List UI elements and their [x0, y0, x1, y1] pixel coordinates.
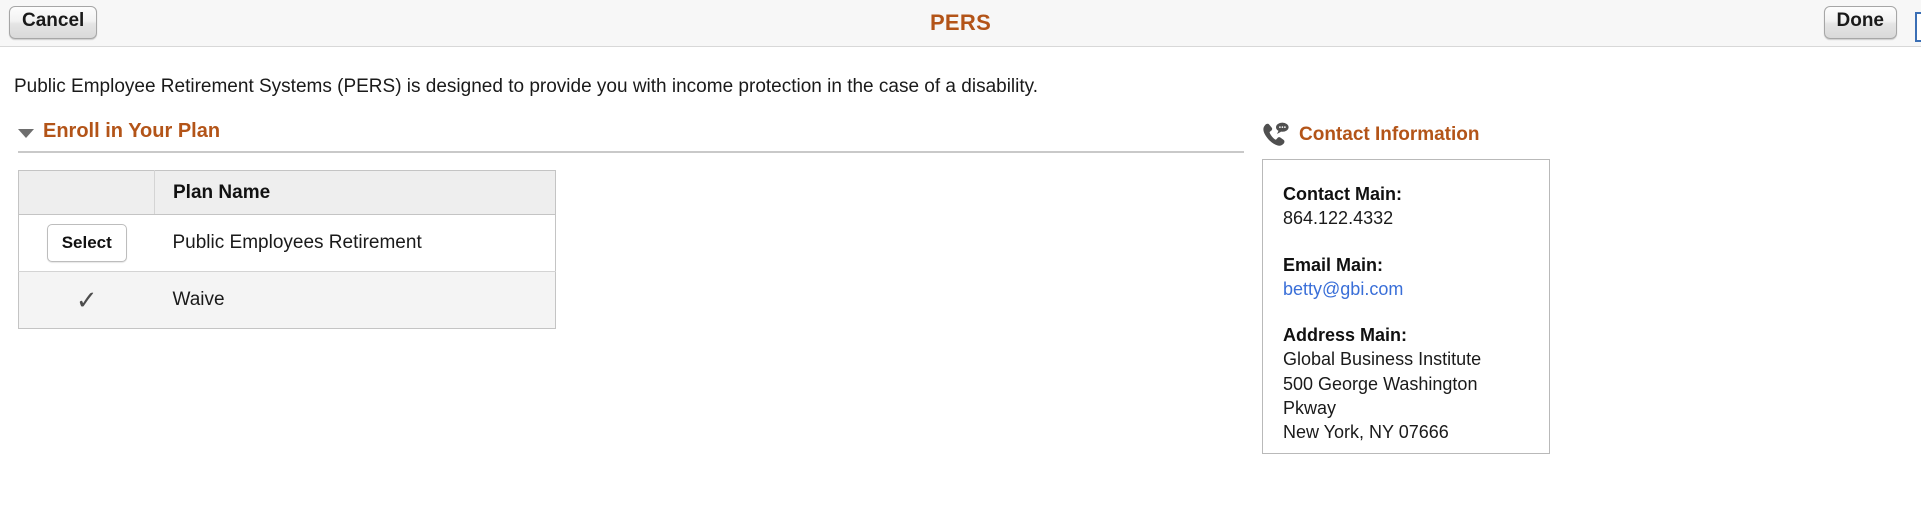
enroll-section-title: Enroll in Your Plan	[43, 120, 220, 143]
email-main-group: Email Main: betty@gbi.com	[1283, 253, 1549, 302]
offscreen-panel-edge	[1915, 12, 1921, 42]
checkmark-icon: ✓	[76, 287, 98, 313]
address-main-group: Address Main: Global Business Institute …	[1283, 323, 1549, 444]
column-header-action	[19, 171, 155, 215]
table-header-row: Plan Name	[19, 171, 556, 215]
address-line: New York, NY 07666	[1283, 420, 1549, 444]
address-line: Pkway	[1283, 396, 1549, 420]
contact-main-value: 864.122.4332	[1283, 206, 1549, 230]
email-main-link[interactable]: betty@gbi.com	[1283, 279, 1403, 299]
app-header: Cancel PERS Done	[0, 0, 1921, 47]
email-main-label: Email Main:	[1283, 253, 1549, 277]
contact-information-header: Contact Information	[1262, 122, 1480, 148]
address-line: Global Business Institute	[1283, 347, 1549, 371]
select-plan-button[interactable]: Select	[47, 224, 127, 262]
plan-name-cell: Waive	[155, 272, 556, 329]
contact-main-group: Contact Main: 864.122.4332	[1283, 182, 1549, 231]
contact-main-label: Contact Main:	[1283, 182, 1549, 206]
address-line: 500 George Washington	[1283, 372, 1549, 396]
intro-paragraph: Public Employee Retirement Systems (PERS…	[14, 76, 1038, 98]
row-action-cell: Select	[19, 215, 155, 272]
phone-chat-icon	[1262, 122, 1290, 148]
enroll-section-toggle[interactable]: Enroll in Your Plan	[18, 120, 220, 143]
plan-table: Plan Name Select Public Employees Retire…	[18, 170, 556, 329]
section-divider	[18, 151, 1244, 153]
table-row[interactable]: Select Public Employees Retirement	[19, 215, 556, 272]
page-title: PERS	[0, 10, 1921, 36]
row-action-cell: ✓	[19, 272, 155, 329]
contact-information-label: Contact Information	[1299, 124, 1480, 146]
table-row[interactable]: ✓ Waive	[19, 272, 556, 329]
done-button[interactable]: Done	[1824, 6, 1898, 39]
contact-information-card: Contact Main: 864.122.4332 Email Main: b…	[1262, 159, 1550, 454]
plan-name-cell: Public Employees Retirement	[155, 215, 556, 272]
triangle-down-icon[interactable]	[18, 129, 34, 138]
address-main-label: Address Main:	[1283, 323, 1549, 347]
column-header-plan-name: Plan Name	[155, 171, 556, 215]
